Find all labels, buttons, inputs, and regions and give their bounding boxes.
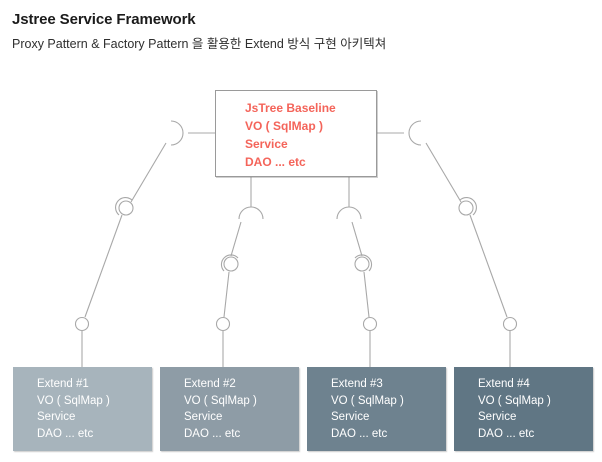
extend-1-line-1: Extend #1: [37, 376, 110, 393]
extend-1-line-3: Service: [37, 409, 110, 426]
extend-4-line-3: Service: [478, 409, 551, 426]
extend-4-line-1: Extend #4: [478, 376, 551, 393]
page-title: Jstree Service Framework: [12, 10, 572, 30]
extend-2-line-2: VO ( SqlMap ): [184, 393, 257, 410]
extend-2-line-3: Service: [184, 409, 257, 426]
extend-1-line-4: DAO ... etc: [37, 426, 110, 443]
jstree-baseline-line-4: DAO ... etc: [245, 153, 336, 171]
jstree-baseline-line-2: VO ( SqlMap ): [245, 117, 336, 135]
extend-3-line-2: VO ( SqlMap ): [331, 393, 404, 410]
jstree-baseline-text: JsTree Baseline VO ( SqlMap ) Service DA…: [245, 99, 336, 171]
extend-3-line-3: Service: [331, 409, 404, 426]
extend-3-line-1: Extend #3: [331, 376, 404, 393]
connector-3: [337, 177, 377, 367]
jstree-baseline-line-3: Service: [245, 135, 336, 153]
extend-3-line-4: DAO ... etc: [331, 426, 404, 443]
jstree-baseline-line-1: JsTree Baseline: [245, 99, 336, 117]
extend-1-text: Extend #1 VO ( SqlMap ) Service DAO ... …: [37, 376, 110, 442]
connector-2: [217, 177, 264, 367]
extend-4-box[interactable]: Extend #4 VO ( SqlMap ) Service DAO ... …: [454, 367, 593, 451]
extend-1-box[interactable]: Extend #1 VO ( SqlMap ) Service DAO ... …: [13, 367, 152, 451]
extend-4-text: Extend #4 VO ( SqlMap ) Service DAO ... …: [478, 376, 551, 442]
extend-1-line-2: VO ( SqlMap ): [37, 393, 110, 410]
connector-4: [377, 121, 517, 367]
extend-2-line-4: DAO ... etc: [184, 426, 257, 443]
connector-1: [76, 121, 216, 367]
extend-2-box[interactable]: Extend #2 VO ( SqlMap ) Service DAO ... …: [160, 367, 299, 451]
extend-3-text: Extend #3 VO ( SqlMap ) Service DAO ... …: [331, 376, 404, 442]
extend-3-box[interactable]: Extend #3 VO ( SqlMap ) Service DAO ... …: [307, 367, 446, 451]
extend-2-text: Extend #2 VO ( SqlMap ) Service DAO ... …: [184, 376, 257, 442]
jstree-baseline-box[interactable]: JsTree Baseline VO ( SqlMap ) Service DA…: [215, 90, 377, 177]
extend-4-line-4: DAO ... etc: [478, 426, 551, 443]
extend-2-line-1: Extend #2: [184, 376, 257, 393]
page-subtitle: Proxy Pattern & Factory Pattern 을 활용한 Ex…: [12, 35, 572, 53]
diagram-canvas: Jstree Service Framework Proxy Pattern &…: [0, 0, 602, 462]
extend-4-line-2: VO ( SqlMap ): [478, 393, 551, 410]
header: Jstree Service Framework Proxy Pattern &…: [12, 10, 572, 53]
